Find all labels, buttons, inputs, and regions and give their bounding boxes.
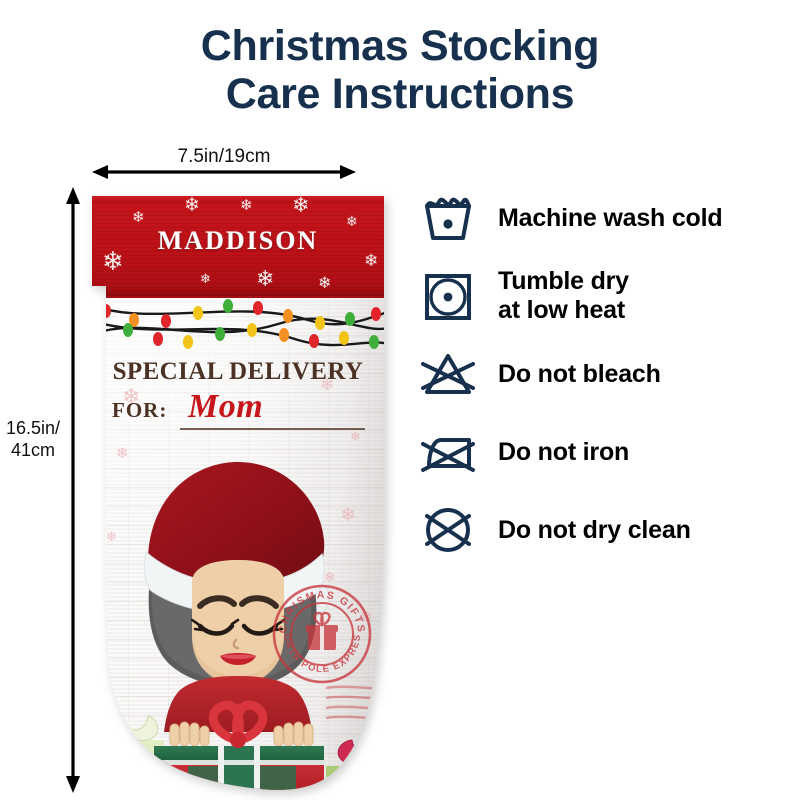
do-not-iron-icon — [416, 426, 480, 478]
gift-box-icon — [306, 613, 338, 650]
care-item-label: Do not iron — [498, 438, 629, 467]
machine-wash-cold-icon — [416, 192, 480, 244]
page-title-line1: Christmas Stocking — [201, 22, 599, 70]
personalized-name: MADDISON — [88, 226, 388, 256]
care-item-label: Do not bleach — [498, 360, 661, 389]
care-item-do-not-iron: Do not iron — [416, 420, 800, 484]
delivery-name-underline — [180, 428, 365, 430]
care-label-line1: Do not iron — [498, 438, 629, 466]
delivery-recipient-name: Mom — [188, 388, 368, 426]
page-title: Christmas Stocking Care Instructions — [0, 22, 800, 118]
stocking-product-image: ❄ ❄ ❄ ❄ ❄ ❄ ❄ ❄ ❄ ❄ ❄ ❄ ❄ ❄ ❄ ❄ ❄ ❄ MADD… — [88, 190, 388, 792]
delivery-for-label: FOR: — [112, 398, 167, 423]
care-item-tumble-dry-low: Tumble dry at low heat — [416, 264, 800, 328]
christmas-lights-string — [88, 294, 388, 354]
north-pole-stamp: CHRISMAS GIFTS NORTH POLE EXPRESS — [270, 582, 374, 686]
snowflake-icon: ❄ — [318, 276, 331, 292]
care-instructions-list: Machine wash cold Tumble dry at low heat — [416, 186, 800, 576]
stocking-cuff: ❄ ❄ ❄ ❄ ❄ ❄ ❄ ❄ ❄ ❄ MADDISON — [88, 190, 388, 298]
care-item-label: Do not dry clean — [498, 516, 691, 545]
care-item-do-not-bleach: Do not bleach — [416, 342, 800, 406]
care-item-label: Tumble dry at low heat — [498, 267, 629, 325]
do-not-bleach-icon — [416, 348, 480, 400]
snowflake-icon: ❄ — [256, 268, 274, 290]
care-item-label: Machine wash cold — [498, 204, 722, 233]
height-dimension-label: 16.5in/ 41cm — [0, 418, 66, 461]
postmark-lines — [324, 682, 388, 724]
height-dimension-line2: 41cm — [0, 440, 66, 462]
care-label-line1: Do not bleach — [498, 360, 661, 388]
tumble-dry-low-icon — [416, 270, 480, 322]
special-delivery-title: SPECIAL DELIVERY — [88, 358, 388, 386]
height-dimension-line1: 16.5in/ — [6, 418, 60, 438]
care-item-do-not-dry-clean: Do not dry clean — [416, 498, 800, 562]
care-label-line1: Do not dry clean — [498, 516, 691, 544]
do-not-dry-clean-icon — [416, 504, 480, 556]
care-label-line2: at low heat — [498, 296, 629, 325]
care-label-line1: Machine wash cold — [498, 204, 722, 232]
care-instructions-page: Christmas Stocking Care Instructions 7.5… — [0, 0, 800, 800]
care-item-machine-wash-cold: Machine wash cold — [416, 186, 800, 250]
snowflake-icon: ❄ — [200, 272, 211, 285]
stocking-silhouette: ❄ ❄ ❄ ❄ ❄ ❄ ❄ ❄ ❄ ❄ ❄ ❄ ❄ ❄ ❄ ❄ ❄ ❄ MADD… — [88, 190, 388, 792]
care-label-line1: Tumble dry — [498, 267, 629, 295]
page-title-line2: Care Instructions — [0, 70, 800, 118]
snowflake-icon: ❄ — [132, 210, 145, 225]
width-dimension-arrow — [90, 163, 358, 181]
cuff-fold — [88, 190, 388, 203]
height-dimension-arrow — [62, 185, 84, 795]
